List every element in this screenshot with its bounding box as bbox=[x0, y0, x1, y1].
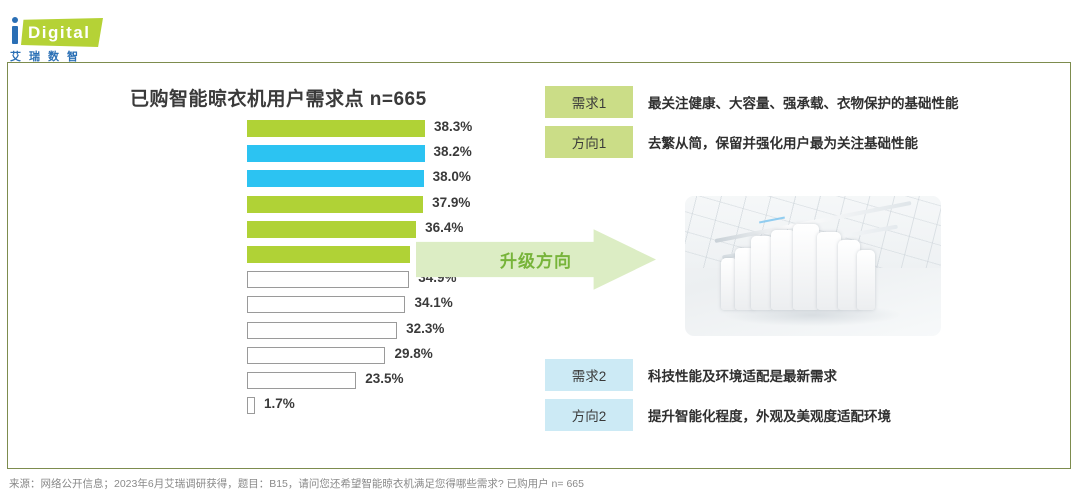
callout-text: 最关注健康、大容量、强承载、衣物保护的基础性能 bbox=[648, 92, 959, 112]
source-note: 来源：网络公开信息；2023年6月艾瑞调研获得，题目：B15，请问您还希望智能晾… bbox=[9, 476, 584, 491]
bar-fill bbox=[247, 397, 255, 414]
bar-track bbox=[247, 271, 409, 288]
bar-track bbox=[247, 296, 405, 313]
callout-badge: 方向2 bbox=[545, 399, 633, 431]
bar-track bbox=[247, 170, 424, 187]
callout-text: 去繁从简，保留并强化用户最为关注基础性能 bbox=[648, 132, 918, 152]
bar-fill bbox=[247, 372, 356, 389]
callout-demand-2: 需求2 科技性能及环境适配是最新需求 bbox=[545, 359, 837, 391]
logo-wordmark: Digital bbox=[28, 23, 90, 43]
callout-direction-2: 方向2 提升智能化程度，外观及美观度适配环境 bbox=[545, 399, 891, 431]
bar-value-label: 34.1% bbox=[414, 295, 452, 310]
photo-shirt bbox=[857, 250, 875, 310]
bar-track bbox=[247, 322, 397, 339]
callout-badge: 需求1 bbox=[545, 86, 633, 118]
bar-fill bbox=[247, 322, 397, 339]
bar-value-label: 37.9% bbox=[432, 195, 470, 210]
callout-direction-1: 方向1 去繁从简，保留并强化用户最为关注基础性能 bbox=[545, 126, 918, 158]
callout-demand-1: 需求1 最关注健康、大容量、强承载、衣物保护的基础性能 bbox=[545, 86, 959, 118]
photo-shirt bbox=[771, 230, 795, 310]
bar-track bbox=[247, 372, 356, 389]
bar-row: 杀菌消毒，满足健康需要38.3% bbox=[0, 118, 520, 143]
bar-value-label: 23.5% bbox=[365, 371, 403, 386]
bar-value-label: 38.3% bbox=[434, 119, 472, 134]
bar-track bbox=[247, 196, 423, 213]
bar-track bbox=[247, 397, 255, 414]
bar-row: 个性化定制，彰显身份地位23.5% bbox=[0, 370, 520, 395]
bar-fill bbox=[247, 145, 425, 162]
bar-row: 灵活适配阳台，不阻碍阳台功能38.0% bbox=[0, 168, 520, 193]
callout-badge: 需求2 bbox=[545, 359, 633, 391]
bar-fill bbox=[247, 296, 405, 313]
logo-banner-shape: Digital bbox=[21, 18, 103, 47]
bar-track bbox=[247, 347, 385, 364]
bar-value-label: 38.2% bbox=[434, 144, 472, 159]
bar-fill bbox=[247, 271, 409, 288]
callout-badge: 方向1 bbox=[545, 126, 633, 158]
callout-text: 提升智能化程度，外观及美观度适配环境 bbox=[648, 405, 891, 425]
bar-row: 外形美观，适配家装风格29.8% bbox=[0, 345, 520, 370]
bar-value-label: 29.8% bbox=[394, 346, 432, 361]
bar-track bbox=[247, 246, 410, 263]
bar-track bbox=[247, 120, 425, 137]
bar-value-label: 1.7% bbox=[264, 396, 295, 411]
photo-shirt bbox=[751, 236, 773, 310]
bar-fill bbox=[247, 246, 410, 263]
bar-fill bbox=[247, 120, 425, 137]
bar-row: 没什么特别的需求1.7% bbox=[0, 395, 520, 420]
bar-fill bbox=[247, 170, 424, 187]
bar-row: 一机多用，兼具阳台照明功能34.1% bbox=[0, 294, 520, 319]
bar-fill bbox=[247, 196, 423, 213]
arrow-label: 升级方向 bbox=[500, 247, 572, 272]
bar-fill bbox=[247, 221, 416, 238]
bar-track bbox=[247, 145, 425, 162]
bar-value-label: 32.3% bbox=[406, 321, 444, 336]
bar-row: 个性化晾晒，保护衣物不变形37.9% bbox=[0, 194, 520, 219]
bar-value-label: 38.0% bbox=[433, 169, 471, 184]
chart-title: 已购智能晾衣机用户需求点 n=665 bbox=[130, 84, 427, 111]
photo-shirt bbox=[793, 224, 819, 310]
upgrade-direction-arrow: 升级方向 bbox=[416, 228, 656, 291]
bar-track bbox=[247, 221, 416, 238]
drying-rack-photo bbox=[685, 196, 941, 336]
bar-fill bbox=[247, 347, 385, 364]
bar-row: 拥抱科技，满足全屋智能化需求38.2% bbox=[0, 143, 520, 168]
logo-i-dot-icon bbox=[12, 17, 18, 23]
callout-text: 科技性能及环境适配是最新需求 bbox=[648, 365, 837, 385]
irdigital-logo: Digital 艾瑞数智 bbox=[8, 10, 138, 58]
bar-row: 分区式晾晒，分类不同体型衣物32.3% bbox=[0, 320, 520, 345]
logo-i-stem-icon bbox=[12, 26, 18, 44]
